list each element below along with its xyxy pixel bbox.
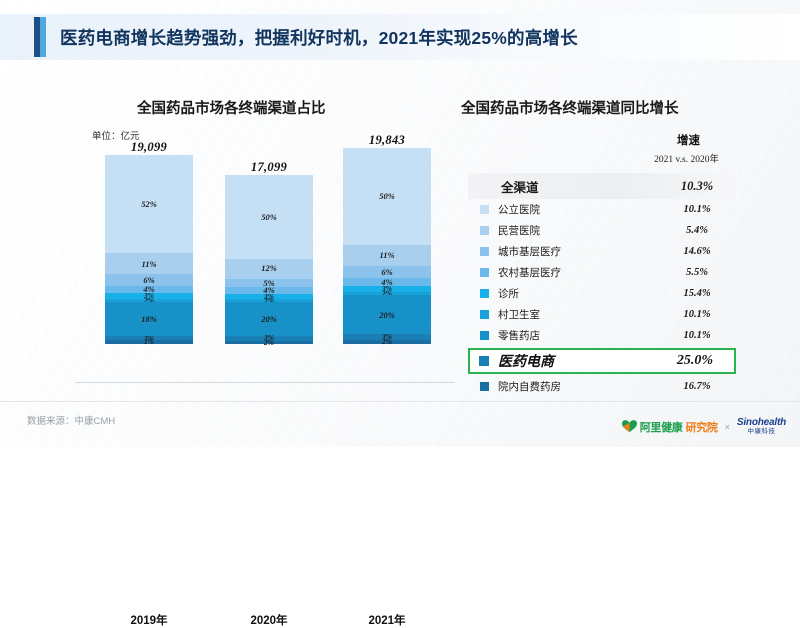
- legend-swatch: [480, 226, 489, 235]
- table-row[interactable]: 院内自费药房16.7%: [468, 376, 736, 397]
- rate-column-subheader: 2021 v.s. 2020年: [468, 151, 736, 165]
- legend-swatch: [480, 247, 489, 256]
- bar-segment-label: 20%: [379, 311, 395, 320]
- legend-swatch: [480, 310, 489, 319]
- stacked-bar-chart: 19,09952%11%6%4%3%2%18%2%1%2019年17,09950…: [85, 150, 445, 380]
- bar-segment-label: 50%: [379, 192, 395, 201]
- bar-segment[interactable]: 20%: [225, 302, 313, 335]
- legend-swatch: [480, 289, 489, 298]
- source-note: 数据来源：中康CMH: [27, 413, 115, 427]
- logo-separator: ×: [725, 422, 730, 432]
- bar-total-label: 19,843: [343, 133, 431, 148]
- row-label: 院内自费药房: [498, 379, 658, 394]
- title-accent-bar-light: [40, 17, 46, 57]
- legend-swatch: [480, 268, 489, 277]
- x-axis-label: 2020年: [225, 612, 313, 628]
- row-value: 5.5%: [658, 267, 736, 278]
- logo-group: 阿里健康 研究院 × Sinohealth 中康科技: [622, 418, 786, 435]
- table-row[interactable]: 农村基层医疗5.5%: [468, 262, 736, 283]
- row-label: 零售药店: [498, 328, 658, 343]
- row-value: 15.4%: [658, 288, 736, 299]
- slide-title-bar: 医药电商增长趋势强劲，把握利好时机，2021年实现25%的高增长: [0, 14, 800, 60]
- growth-rate-table: 增速 2021 v.s. 2020年 全渠道 10.3% 公立医院10.1%民营…: [468, 132, 736, 397]
- row-value: 10.1%: [658, 309, 736, 320]
- row-label: 村卫生室: [498, 307, 658, 322]
- row-value: 10.1%: [658, 330, 736, 341]
- footer-divider: [0, 401, 800, 402]
- row-label: 城市基层医疗: [498, 244, 658, 259]
- slide-canvas: 医药电商增长趋势强劲，把握利好时机，2021年实现25%的高增长 全国药品市场各…: [0, 0, 800, 447]
- bar-segment-label: 2%: [264, 339, 274, 347]
- bar-total-label: 19,099: [105, 140, 193, 155]
- row-value: 25.0%: [656, 353, 734, 369]
- bar-segment[interactable]: 18%: [105, 302, 193, 336]
- table-row-highlighted[interactable]: 医药电商25.0%: [468, 348, 736, 374]
- bar-segment-label: 50%: [261, 213, 277, 222]
- legend-swatch: [480, 382, 489, 391]
- row-value: 16.7%: [658, 381, 736, 392]
- rate-column-header: 增速: [468, 132, 736, 148]
- legend-swatch: [480, 205, 489, 214]
- stacked-bar[interactable]: 52%11%6%4%3%2%18%2%1%: [105, 155, 193, 344]
- table-row[interactable]: 村卫生室10.1%: [468, 304, 736, 325]
- alihealth-name: 阿里健康: [640, 419, 683, 435]
- legend-swatch: [480, 331, 489, 340]
- bar-segment[interactable]: 1%: [105, 340, 193, 344]
- table-row-total: 全渠道 10.3%: [468, 173, 736, 199]
- page-title: 医药电商增长趋势强劲，把握利好时机，2021年实现25%的高增长: [60, 25, 578, 50]
- bar-segment[interactable]: 2%: [343, 340, 431, 344]
- bar-segment[interactable]: 11%: [105, 253, 193, 274]
- bar-segment[interactable]: 50%: [343, 148, 431, 245]
- bar-segment-label: 2%: [382, 338, 392, 346]
- x-axis-label: 2019年: [105, 612, 193, 628]
- bar-segment-label: 6%: [143, 276, 154, 285]
- bar-segment-label: 11%: [141, 260, 156, 269]
- bar-segment-label: 11%: [379, 251, 394, 260]
- bar-segment-label: 20%: [261, 315, 277, 324]
- row-label: 农村基层医疗: [498, 265, 658, 280]
- bar-segment[interactable]: 12%: [225, 259, 313, 279]
- alihealth-institute: 研究院: [686, 419, 718, 435]
- row-label: 诊所: [498, 286, 658, 301]
- table-row[interactable]: 城市基层医疗14.6%: [468, 241, 736, 262]
- row-value: 5.4%: [658, 225, 736, 236]
- sinohealth-name-en: Sinohealth: [737, 418, 786, 429]
- bar-segment[interactable]: 52%: [105, 155, 193, 253]
- alihealth-logo: 阿里健康 研究院: [622, 419, 718, 435]
- sinohealth-logo: Sinohealth 中康科技: [737, 418, 786, 435]
- bar-segment-label: 52%: [141, 200, 157, 209]
- left-chart-title: 全国药品市场各终端渠道占比: [137, 97, 326, 118]
- table-row[interactable]: 零售药店10.1%: [468, 325, 736, 346]
- bar-segment-label: 12%: [261, 264, 277, 273]
- row-value: 14.6%: [658, 246, 736, 257]
- bar-segment-label: 1%: [144, 338, 154, 346]
- bar-segment-label: 6%: [381, 268, 392, 277]
- chart-baseline: [75, 382, 455, 383]
- bar-segment-label: 18%: [141, 315, 157, 324]
- heart-icon: [622, 420, 637, 433]
- x-axis-label: 2021年: [343, 612, 431, 628]
- table-row[interactable]: 公立医院10.1%: [468, 199, 736, 220]
- bar-segment[interactable]: 50%: [225, 175, 313, 259]
- stacked-bar[interactable]: 50%12%5%4%3%2%20%3%2%: [225, 175, 313, 344]
- row-label: 医药电商: [498, 351, 656, 371]
- row-label: 民营医院: [498, 223, 658, 238]
- stacked-bar[interactable]: 50%11%6%4%3%2%20%3%2%: [343, 148, 431, 344]
- row-label: 全渠道: [501, 177, 658, 196]
- bar-segment[interactable]: 2%: [225, 341, 313, 344]
- row-value: 10.1%: [658, 204, 736, 215]
- bar-total-label: 17,099: [225, 160, 313, 175]
- right-chart-title: 全国药品市场各终端渠道同比增长: [461, 97, 679, 118]
- sinohealth-name-cn: 中康科技: [737, 429, 786, 436]
- row-value: 10.3%: [658, 179, 736, 194]
- bar-segment[interactable]: 11%: [343, 245, 431, 266]
- legend-swatch: [479, 356, 489, 366]
- row-label: 公立医院: [498, 202, 658, 217]
- bar-segment[interactable]: 20%: [343, 295, 431, 334]
- table-row[interactable]: 民营医院5.4%: [468, 220, 736, 241]
- table-row[interactable]: 诊所15.4%: [468, 283, 736, 304]
